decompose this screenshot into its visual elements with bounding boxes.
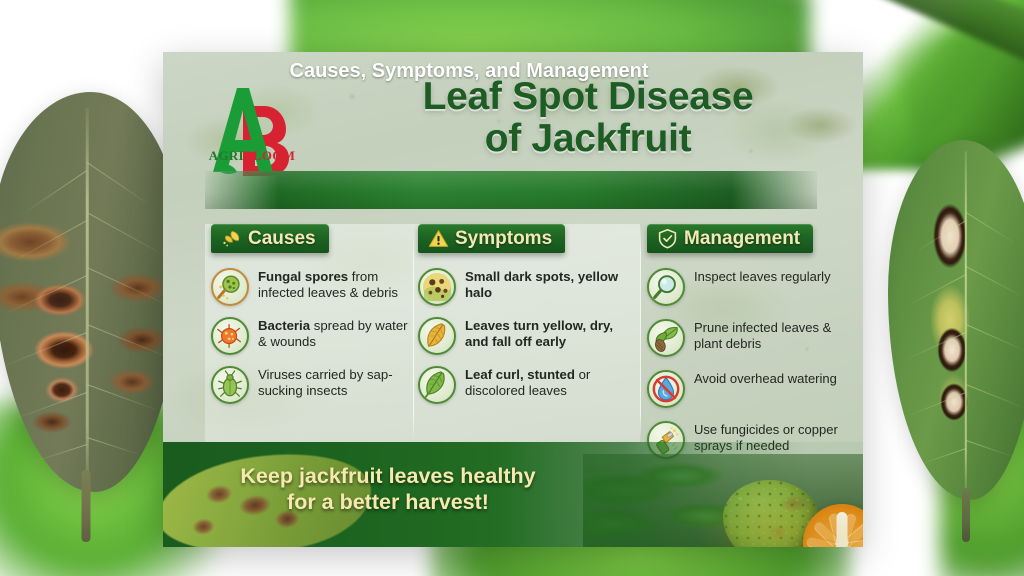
- magnifier-spores-icon: [211, 268, 249, 306]
- list-item[interactable]: Inspect leaves regularly: [647, 268, 857, 306]
- curled-leaf-icon: [418, 366, 456, 404]
- no-water-icon: [647, 370, 685, 408]
- leaf-vein: [7, 332, 87, 366]
- list-item-text: Leaf curl, stunted or discolored leaves: [465, 366, 633, 400]
- list-item[interactable]: Small dark spots, yellow halo: [418, 268, 633, 306]
- leaf-vein: [966, 266, 1021, 296]
- subtitle-text: Causes, Symptoms, and Management: [163, 52, 775, 90]
- list-item-text: Bacteria spread by water & wounds: [258, 317, 411, 351]
- tagline-line-1: Keep jackfruit leaves healthy: [240, 464, 535, 488]
- list-item-text: Viruses carried by sap-sucking insects: [258, 366, 411, 400]
- list-item-text: Leaves turn yellow, dry, and fall off ea…: [465, 317, 633, 351]
- leaf-vein: [7, 275, 87, 313]
- list-item-rest: Prune infected leaves & plant debris: [694, 320, 831, 351]
- list-item[interactable]: Bacteria spread by water & wounds: [211, 317, 411, 355]
- leaf-vein: [87, 267, 167, 305]
- list-item[interactable]: Leaf curl, stunted or discolored leaves: [418, 366, 633, 404]
- warning-triangle-icon: [428, 228, 449, 249]
- management-item-list: Inspect leaves regularly: [647, 268, 857, 459]
- leaf-vein: [87, 437, 139, 455]
- infographic-canvas: AGRIBLOOM Leaf Spot Disease of Jackfruit…: [0, 0, 1024, 576]
- leaf-stem: [962, 488, 970, 542]
- leaf-vein: [17, 392, 87, 419]
- leaf-vein: [966, 384, 1022, 408]
- magnifier-icon: [647, 268, 685, 306]
- leaf-stem: [82, 470, 91, 542]
- leaf-vein: [25, 170, 87, 213]
- leaves-icon: [221, 228, 242, 249]
- list-item-bold: Leaves turn yellow, dry, and fall off ea…: [465, 318, 613, 349]
- list-item[interactable]: Prune infected leaves & plant debris: [647, 319, 857, 357]
- list-item-bold: Fungal spores: [258, 269, 348, 284]
- list-item[interactable]: Viruses carried by sap-sucking insects: [211, 366, 411, 404]
- leaf-vein: [907, 332, 966, 359]
- list-item-rest: Inspect leaves regularly: [694, 269, 831, 284]
- bacteria-icon: [211, 317, 249, 355]
- tagline-text: Keep jackfruit leaves healthy for a bett…: [223, 464, 553, 516]
- leaf-vein: [87, 212, 161, 254]
- leaf-vein: [966, 324, 1024, 351]
- shield-check-icon: [657, 228, 678, 249]
- lesioned-leaf-right-image: [888, 140, 1024, 500]
- leaf-vein: [13, 220, 87, 262]
- leaf-vein: [916, 220, 966, 252]
- list-item[interactable]: Leaves turn yellow, dry, and fall off ea…: [418, 317, 633, 355]
- list-item-text: Inspect leaves regularly: [694, 268, 831, 285]
- tagline-line-2: for a better harvest!: [287, 490, 489, 514]
- column-heading-label: Symptoms: [455, 228, 552, 250]
- column-heading-management[interactable]: Management: [647, 224, 813, 253]
- list-item-text: Prune infected leaves & plant debris: [694, 319, 857, 352]
- leaf-vein: [911, 274, 966, 304]
- column-heading-causes[interactable]: Causes: [211, 224, 329, 253]
- list-item-bold: Small dark spots, yellow halo: [465, 269, 618, 300]
- list-item-text: Avoid overhead watering: [694, 370, 837, 387]
- list-item-text: Fungal spores from infected leaves & deb…: [258, 268, 411, 302]
- column-heading-symptoms[interactable]: Symptoms: [418, 224, 565, 253]
- leaf-vein: [966, 212, 1016, 244]
- list-item-bold: Bacteria: [258, 318, 310, 333]
- column-heading-label: Causes: [248, 228, 316, 250]
- spotted-leaf-icon: [418, 268, 456, 306]
- leaf-vein: [87, 384, 157, 411]
- list-item[interactable]: Avoid overhead watering: [647, 370, 857, 408]
- list-item-bold: Leaf curl, stunted: [465, 367, 575, 382]
- leaf-vein: [87, 324, 167, 358]
- infographic-card: AGRIBLOOM Leaf Spot Disease of Jackfruit…: [163, 52, 863, 547]
- list-item-text: Small dark spots, yellow halo: [465, 268, 633, 302]
- insect-icon: [211, 366, 249, 404]
- symptoms-item-list: Small dark spots, yellow halo: [418, 268, 633, 404]
- leaf-vein: [920, 448, 966, 465]
- list-item-rest: Viruses carried by sap-sucking insects: [258, 367, 393, 398]
- leaf-vein: [910, 392, 966, 416]
- column-heading-label: Management: [684, 228, 800, 250]
- column-symptoms: Symptoms: [418, 224, 633, 415]
- leaf-vein: [966, 440, 1012, 457]
- yellow-leaf-icon: [418, 317, 456, 355]
- leaf-vein: [35, 444, 87, 462]
- column-causes: Causes: [211, 224, 411, 415]
- list-item[interactable]: Fungal spores from infected leaves & deb…: [211, 268, 411, 306]
- leaf-vein: [87, 162, 149, 205]
- column-management: Management Inspect leaves regularly: [647, 224, 857, 472]
- pruning-leaves-icon: [647, 319, 685, 357]
- causes-item-list: Fungal spores from infected leaves & deb…: [211, 268, 411, 404]
- list-item-rest: Avoid overhead watering: [694, 371, 837, 386]
